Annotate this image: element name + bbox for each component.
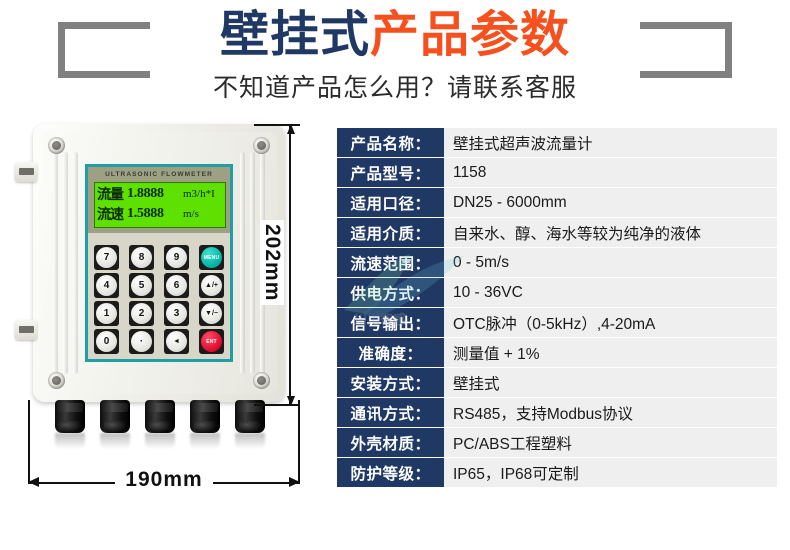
spec-row-value: 10 - 36VC bbox=[444, 278, 777, 307]
device-keypad: 7 8 9 MENU 4 5 6 ▲/+ 1 2 3 bbox=[94, 243, 224, 357]
key-dot[interactable]: · bbox=[129, 329, 154, 354]
brand-label: ULTRASONIC FLOWMETER bbox=[88, 171, 230, 178]
cable-gland-reflection bbox=[190, 433, 220, 449]
key-2[interactable]: 2 bbox=[129, 301, 154, 326]
spec-row: 产品型号：1158 bbox=[337, 158, 777, 187]
spec-row-value: OTC脉冲（0-5kHz）,4-20mA bbox=[444, 308, 777, 337]
spec-row: 供电方式：10 - 36VC bbox=[337, 278, 777, 307]
lcd-flow-unit: m3/h*I bbox=[183, 188, 215, 200]
spec-row-value: 壁挂式超声波流量计 bbox=[444, 128, 777, 157]
lcd-velocity-unit: m/s bbox=[183, 208, 199, 220]
spec-row-label: 安装方式： bbox=[337, 368, 444, 397]
spec-row-label: 防护等级： bbox=[337, 458, 444, 487]
spec-row-label: 产品型号： bbox=[337, 158, 444, 187]
housing-screw bbox=[48, 372, 65, 389]
key-down-minus[interactable]: ▼/− bbox=[199, 301, 224, 326]
housing-rib bbox=[73, 152, 78, 374]
key-3[interactable]: 3 bbox=[164, 301, 189, 326]
cable-gland-reflection bbox=[235, 433, 265, 449]
lcd-bezel: ULTRASONIC FLOWMETER 流量 1.8888 m3/h*I 流速… bbox=[88, 167, 230, 233]
wall-mount-tab bbox=[15, 320, 37, 340]
spec-row: 适用口径：DN25 - 6000mm bbox=[337, 188, 777, 217]
spec-row-label: 适用介质： bbox=[337, 218, 444, 247]
key-4[interactable]: 4 bbox=[94, 273, 119, 298]
spec-row-value: 测量值 + 1% bbox=[444, 338, 777, 367]
lcd-flow-label: 流量 bbox=[97, 184, 127, 204]
product-spec-page: 壁挂式产品参数 不知道产品怎么用？请联系客服 ULTRASONIC FLOWME… bbox=[0, 0, 790, 550]
cable-gland-reflection bbox=[55, 433, 85, 449]
wall-mount-tab bbox=[15, 162, 37, 182]
lcd-screen: 流量 1.8888 m3/h*I 流速 1.5888 m/s bbox=[94, 182, 226, 228]
spec-row-label: 信号输出： bbox=[337, 308, 444, 337]
arrowhead-up bbox=[287, 124, 295, 134]
cable-gland-reflection bbox=[100, 433, 130, 449]
dimension-line-vertical bbox=[289, 124, 291, 406]
device-front-panel: ULTRASONIC FLOWMETER 流量 1.8888 m3/h*I 流速… bbox=[85, 164, 233, 362]
spec-row: 防护等级：IP65，IP68可定制 bbox=[337, 458, 777, 487]
page-title-orange: 产品参数 bbox=[370, 8, 570, 62]
spec-row: 通讯方式：RS485，支持Modbus协议 bbox=[337, 398, 777, 427]
spec-row-label: 准确度： bbox=[337, 338, 444, 367]
cable-gland bbox=[55, 400, 85, 433]
lcd-velocity-value: 1.5888 bbox=[127, 206, 183, 222]
page-header: 壁挂式产品参数 不知道产品怎么用？请联系客服 bbox=[0, 0, 790, 112]
key-back[interactable]: ◄ bbox=[164, 329, 189, 354]
spec-row-label: 产品名称： bbox=[337, 128, 444, 157]
housing-rib bbox=[63, 152, 68, 374]
keypad-row: 7 8 9 MENU bbox=[94, 245, 224, 270]
key-6[interactable]: 6 bbox=[164, 273, 189, 298]
spec-row-value: IP65，IP68可定制 bbox=[444, 458, 777, 487]
keypad-row: 1 2 3 ▼/− bbox=[94, 301, 224, 326]
spec-row: 安装方式：壁挂式 bbox=[337, 368, 777, 397]
page-title: 壁挂式产品参数 bbox=[0, 6, 790, 64]
key-up-plus[interactable]: ▲/+ bbox=[199, 273, 224, 298]
spec-row-value: 壁挂式 bbox=[444, 368, 777, 397]
spec-row-label: 流速范围： bbox=[337, 248, 444, 277]
spec-row: 产品名称：壁挂式超声波流量计 bbox=[337, 128, 777, 157]
keypad-row: 0 · ◄ ENT bbox=[94, 329, 224, 354]
spec-row-label: 供电方式： bbox=[337, 278, 444, 307]
key-1[interactable]: 1 bbox=[94, 301, 119, 326]
spec-row: 流速范围：0 - 5m/s bbox=[337, 248, 777, 277]
spec-row: 准确度：测量值 + 1% bbox=[337, 338, 777, 367]
cable-gland bbox=[100, 400, 130, 433]
key-5[interactable]: 5 bbox=[129, 273, 154, 298]
key-ent[interactable]: ENT bbox=[199, 329, 224, 354]
spec-row-label: 外壳材质： bbox=[337, 428, 444, 457]
arrowhead-down bbox=[287, 396, 295, 406]
lcd-flow-value: 1.8888 bbox=[127, 186, 183, 202]
cable-gland-reflection bbox=[145, 433, 175, 449]
spec-row-value: DN25 - 6000mm bbox=[444, 188, 777, 217]
lcd-line-velocity: 流速 1.5888 m/s bbox=[97, 204, 223, 224]
housing-rib bbox=[53, 152, 58, 374]
dimension-height-label: 202mm bbox=[260, 220, 284, 305]
spec-row-value: PC/ABS工程塑料 bbox=[444, 428, 777, 457]
device-photo-area: ULTRASONIC FLOWMETER 流量 1.8888 m3/h*I 流速… bbox=[0, 112, 330, 550]
dimension-height: 202mm bbox=[230, 120, 300, 410]
spec-row: 适用介质：自来水、醇、海水等较为纯净的液体 bbox=[337, 218, 777, 247]
lcd-velocity-label: 流速 bbox=[97, 204, 127, 224]
key-7[interactable]: 7 bbox=[94, 245, 119, 270]
spec-row-value: 1158 bbox=[444, 158, 777, 187]
keypad-row: 4 5 6 ▲/+ bbox=[94, 273, 224, 298]
dimension-width: 190mm bbox=[22, 460, 306, 500]
key-menu[interactable]: MENU bbox=[199, 245, 224, 270]
cable-gland bbox=[190, 400, 220, 433]
cable-gland bbox=[145, 400, 175, 433]
spec-row-value: 自来水、醇、海水等较为纯净的液体 bbox=[444, 218, 777, 247]
lcd-line-flow: 流量 1.8888 m3/h*I bbox=[97, 184, 223, 204]
key-9[interactable]: 9 bbox=[164, 245, 189, 270]
spec-table: 产品名称：壁挂式超声波流量计产品型号：1158适用口径：DN25 - 6000m… bbox=[337, 128, 777, 488]
spec-row-label: 通讯方式： bbox=[337, 398, 444, 427]
spec-row: 信号输出：OTC脉冲（0-5kHz）,4-20mA bbox=[337, 308, 777, 337]
spec-row: 外壳材质：PC/ABS工程塑料 bbox=[337, 428, 777, 457]
spec-row-value: 0 - 5m/s bbox=[444, 248, 777, 277]
dimension-width-label: 190mm bbox=[22, 468, 306, 492]
housing-screw bbox=[48, 137, 65, 154]
key-0[interactable]: 0 bbox=[94, 329, 119, 354]
page-title-navy: 壁挂式 bbox=[220, 8, 370, 62]
spec-row-value: RS485，支持Modbus协议 bbox=[444, 398, 777, 427]
spec-row-label: 适用口径： bbox=[337, 188, 444, 217]
key-8[interactable]: 8 bbox=[129, 245, 154, 270]
page-subtitle: 不知道产品怎么用？请联系客服 bbox=[0, 72, 790, 104]
